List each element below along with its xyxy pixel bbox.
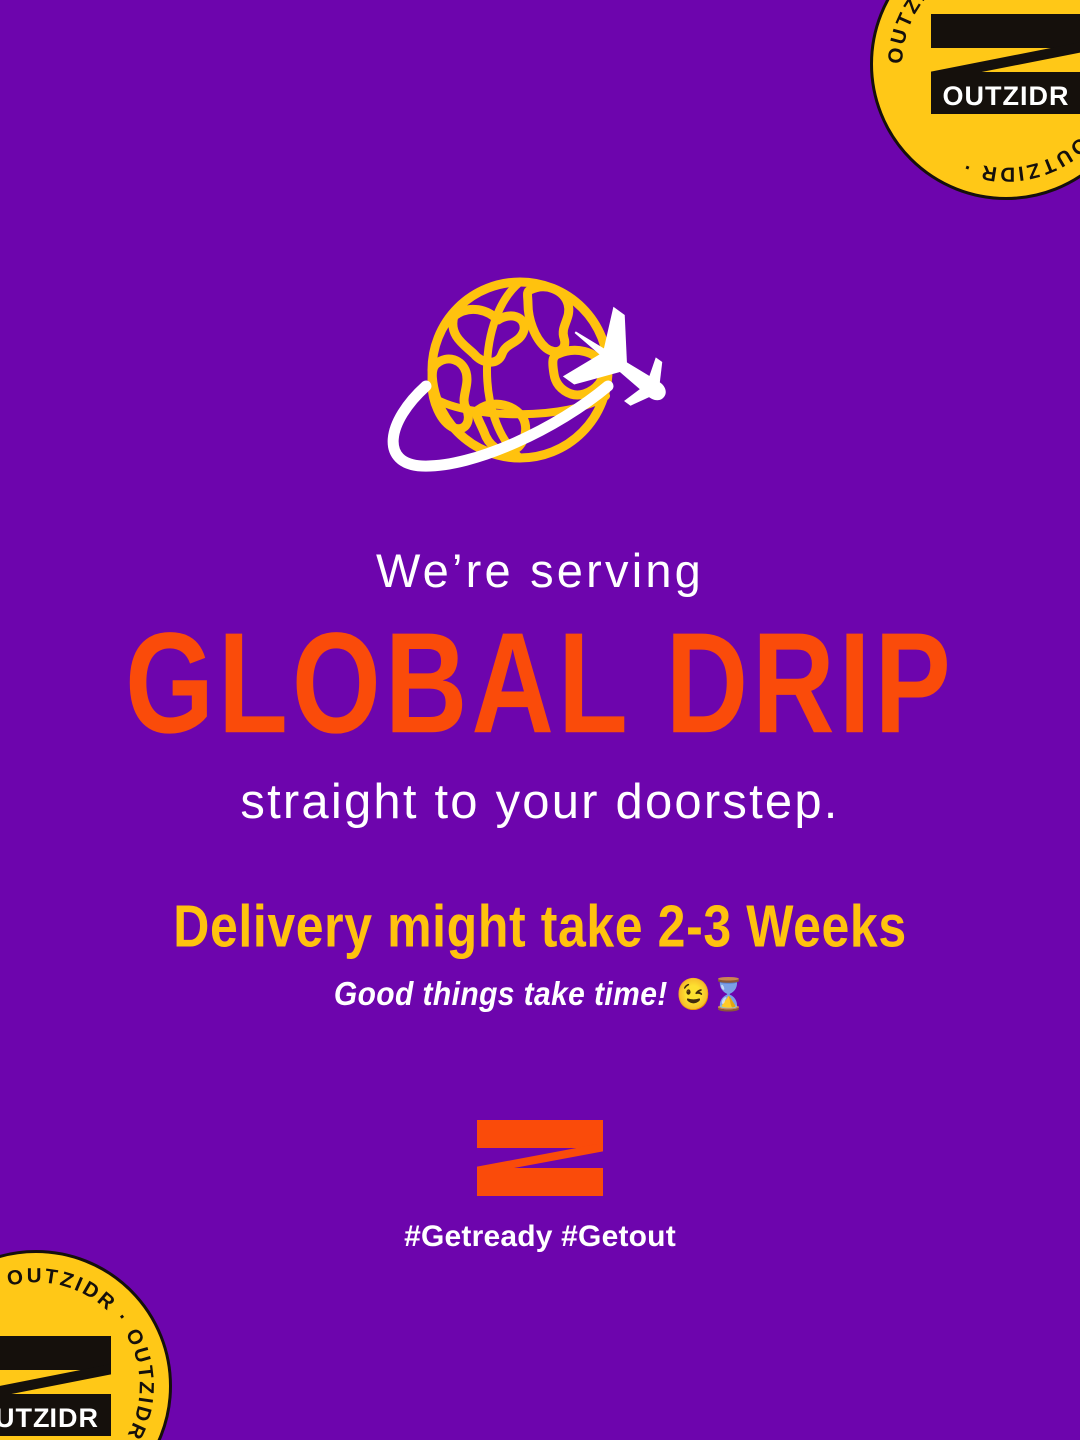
wordmark-prefix: OUT [0, 1403, 33, 1433]
hashtags-text: #Getready #Getout [404, 1220, 676, 1254]
badge-top-right: OUTZIDR · OUTZIDR · OUTZIDR · OUTZIDR · … [870, 0, 1080, 200]
badge-core-top-right: OUTZIDR [931, 14, 1080, 114]
eyebrow-text: We’re serving [0, 546, 1080, 595]
z-logo-icon [477, 1120, 603, 1196]
badge-wordmark-bottom-left: OUTZIDR [0, 1402, 111, 1436]
badge-core-bottom-left: OUTZIDR [0, 1336, 111, 1436]
poster-copy-block: We’re serving GLOBAL DRIP straight to yo… [0, 546, 1080, 1008]
poster-canvas: OUTZIDR · OUTZIDR · OUTZIDR · OUTZIDR · … [0, 0, 1080, 1440]
badge-wordmark-top-right: OUTZIDR [931, 80, 1080, 114]
subline-text: straight to your doorstep. [0, 777, 1080, 828]
footer-lockup: #Getready #Getout [0, 1120, 1080, 1254]
wink-and-hourglass-emoji: 😉⌛ [676, 977, 746, 1012]
reassurance-text: Good things take time! [334, 976, 668, 1013]
headline-text: GLOBAL DRIP [0, 603, 1080, 764]
globe-icon [370, 268, 710, 488]
wordmark-suffix: IDR [50, 1403, 100, 1433]
reassurance-line: Good things take time! 😉⌛ [0, 977, 1080, 1012]
globe-airplane-illustration [0, 268, 1080, 488]
delivery-notice-text: Delivery might take 2-3 Weeks [0, 896, 1080, 958]
wordmark-z: Z [33, 1403, 50, 1433]
badge-bottom-left: OUTZIDR · OUTZIDR · OUTZIDR · OUTZIDR · … [0, 1250, 172, 1440]
